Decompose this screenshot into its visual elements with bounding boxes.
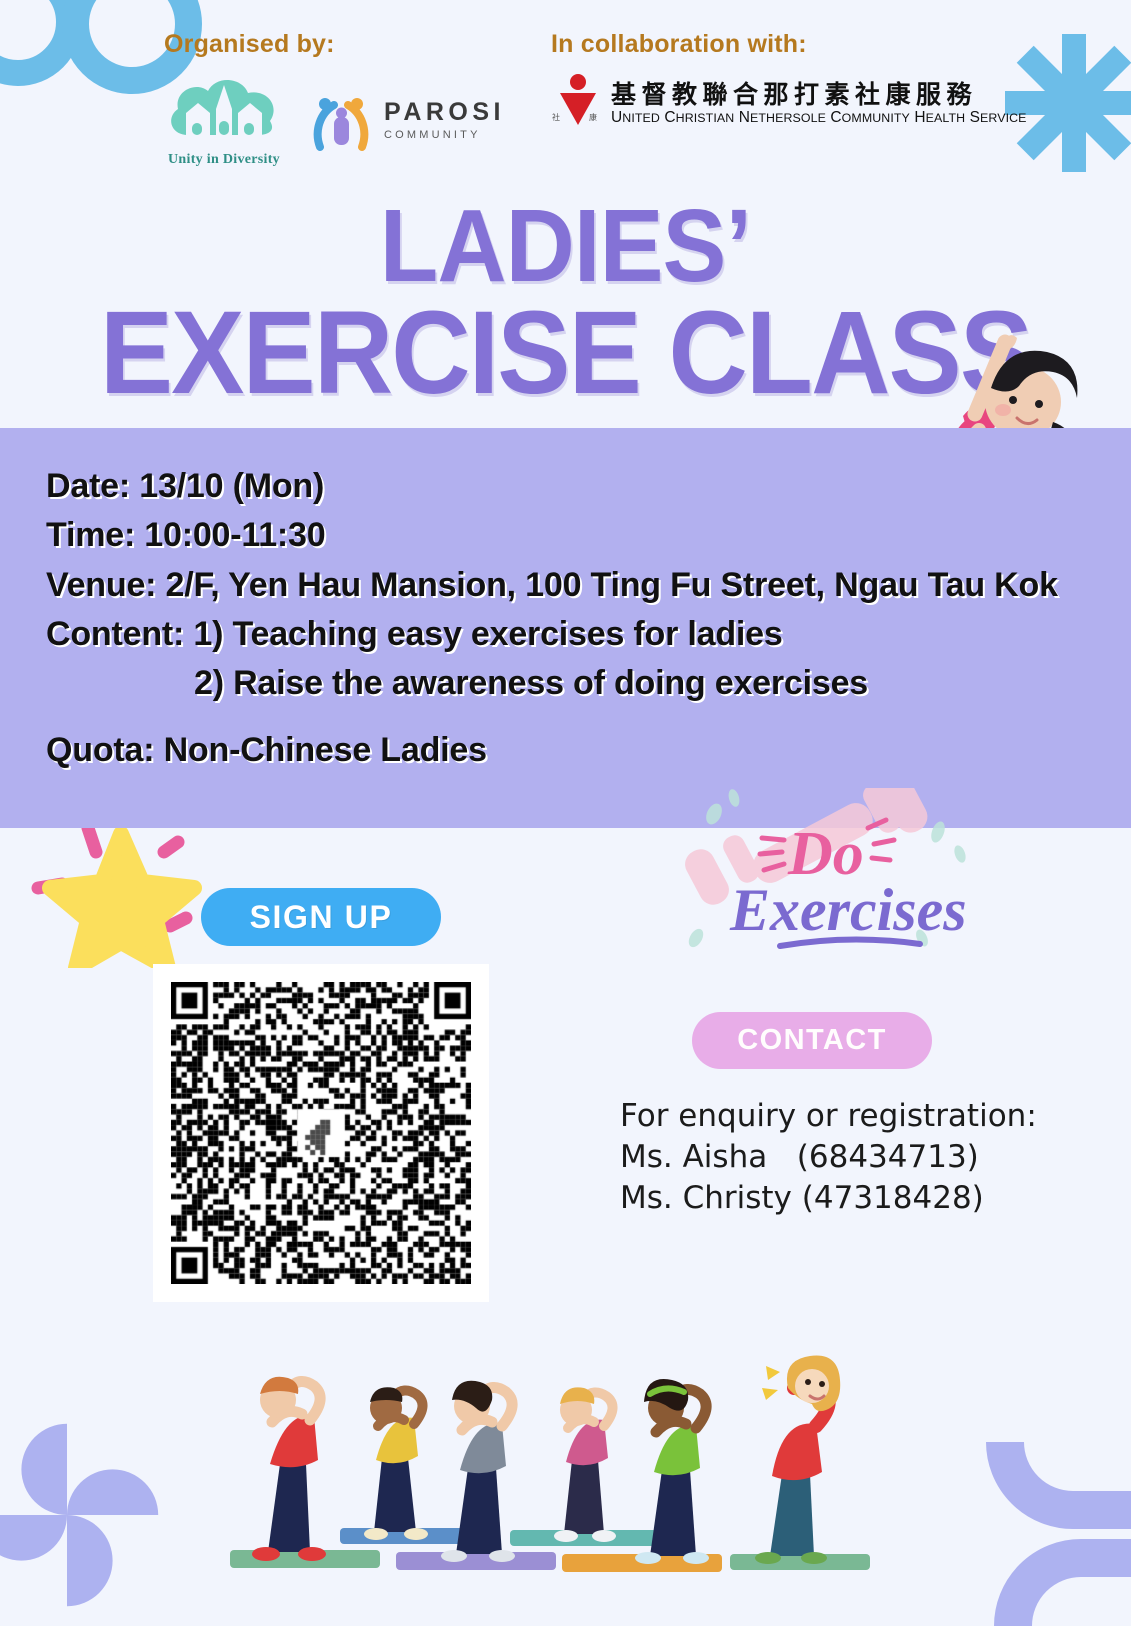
do-exercises-word-exercises: Exercises bbox=[729, 877, 967, 943]
collaboration-block: In collaboration with: 社 康 基督教聯合那打素社康服務 … bbox=[551, 30, 1027, 127]
ucn-chinese-name: 基督教聯合那打素社康服務 bbox=[611, 81, 1027, 108]
detail-venue: Venue: 2/F, Yen Hau Mansion, 100 Ting Fu… bbox=[46, 561, 1086, 610]
yellow-star-decoration bbox=[18, 808, 228, 968]
contact-person-2: Ms. Christy (47318428) bbox=[620, 1178, 1037, 1219]
detail-content-2: 2) Raise the awareness of doing exercise… bbox=[46, 659, 1086, 708]
detail-time: Time: 10:00-11:30 bbox=[46, 511, 1086, 560]
ucn-logo: 社 康 基督教聯合那打素社康服務 UNITED CHRISTIAN NETHER… bbox=[551, 73, 1027, 127]
lavender-arc-decoration bbox=[961, 1426, 1131, 1626]
person-pink bbox=[554, 1387, 616, 1542]
unity-cloud-icon bbox=[164, 73, 284, 151]
person-hijab bbox=[755, 1356, 840, 1565]
person-yellow bbox=[364, 1387, 428, 1540]
detail-quota: Quota: Non-Chinese Ladies bbox=[46, 726, 1086, 775]
organiser-logos: Unity in Diversity PAROSI COMMUNITY bbox=[164, 73, 505, 168]
sign-up-button[interactable]: SIGN UP bbox=[201, 888, 441, 946]
svg-text:社: 社 bbox=[552, 112, 560, 122]
qr-code-card[interactable] bbox=[153, 964, 489, 1302]
parosi-logo: PAROSI COMMUNITY bbox=[310, 91, 505, 151]
organised-by-label: Organised by: bbox=[164, 30, 505, 59]
poster-header: Organised by: Unity in Diver bbox=[0, 22, 1131, 182]
do-exercises-artwork: Do Exercises bbox=[672, 788, 982, 963]
exercising-people-illustration bbox=[210, 1314, 910, 1574]
organised-by-block: Organised by: Unity in Diver bbox=[164, 30, 505, 168]
unity-logo-caption: Unity in Diversity bbox=[164, 152, 284, 168]
details-list: Date: 13/10 (Mon) Time: 10:00-11:30 Venu… bbox=[46, 462, 1086, 776]
parosi-mark-icon bbox=[310, 91, 372, 151]
ucn-english-name: UNITED CHRISTIAN NETHERSOLE COMMUNITY HE… bbox=[611, 109, 1027, 127]
contact-badge: CONTACT bbox=[692, 1012, 932, 1069]
title-line-1: LADIES’ bbox=[40, 196, 1092, 296]
ucn-figure-icon: 社 康 bbox=[551, 73, 601, 127]
person-red bbox=[252, 1377, 326, 1561]
parosi-wordmark: PAROSI bbox=[384, 100, 505, 125]
svg-text:康: 康 bbox=[589, 112, 597, 122]
qr-code-image[interactable] bbox=[171, 982, 471, 1284]
collaboration-label: In collaboration with: bbox=[551, 30, 1027, 59]
pinwheel-flower-decoration bbox=[0, 1420, 162, 1610]
detail-content: Content: 1) Teaching easy exercises for … bbox=[46, 610, 1086, 659]
unity-in-diversity-logo: Unity in Diversity bbox=[164, 73, 284, 168]
detail-date: Date: 13/10 (Mon) bbox=[46, 462, 1086, 511]
contact-intro: For enquiry or registration: bbox=[620, 1096, 1037, 1137]
parosi-subtitle: COMMUNITY bbox=[384, 129, 505, 141]
contact-details: For enquiry or registration: Ms. Aisha (… bbox=[620, 1096, 1037, 1219]
contact-person-1: Ms. Aisha (68434713) bbox=[620, 1137, 1037, 1178]
